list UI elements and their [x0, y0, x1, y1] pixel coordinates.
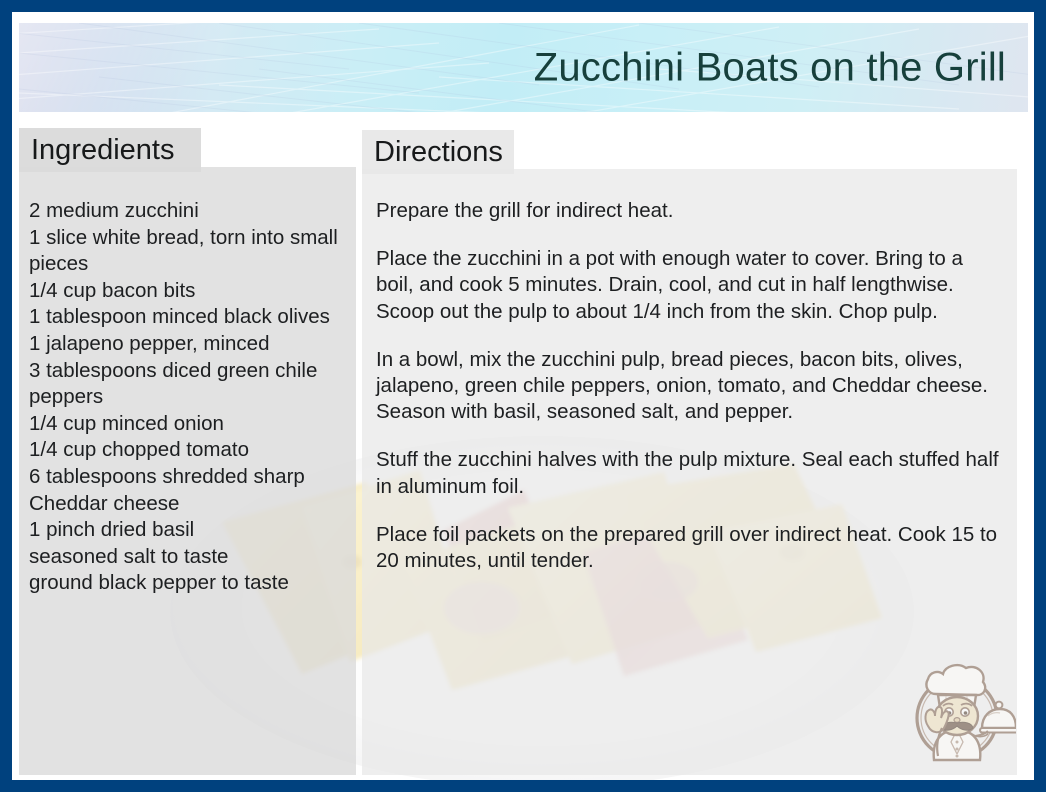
list-item: 1/4 cup bacon bits: [29, 278, 346, 305]
recipe-card-frame: Zucchini Boats on the Grill Ingredients …: [0, 0, 1046, 792]
tab-ingredients[interactable]: Ingredients: [19, 128, 201, 172]
direction-step: Stuff the zucchini halves with the pulp …: [376, 447, 1003, 499]
direction-step: Place foil packets on the prepared grill…: [376, 522, 1003, 574]
list-item: 3 tablespoons diced green chile peppers: [29, 358, 346, 411]
page-title: Zucchini Boats on the Grill: [534, 45, 1006, 90]
direction-step: Prepare the grill for indirect heat.: [376, 198, 1003, 224]
tab-directions[interactable]: Directions: [362, 130, 514, 174]
tab-directions-label: Directions: [374, 136, 503, 169]
recipe-page: Zucchini Boats on the Grill Ingredients …: [12, 12, 1034, 780]
list-item: 6 tablespoons shredded sharp Cheddar che…: [29, 464, 346, 517]
list-item: ground black pepper to taste: [29, 570, 346, 597]
tab-ingredients-label: Ingredients: [31, 134, 175, 167]
list-item: seasoned salt to taste: [29, 544, 346, 571]
header-banner: Zucchini Boats on the Grill: [19, 23, 1028, 112]
list-item: 1 jalapeno pepper, minced: [29, 331, 346, 358]
list-item: 1/4 cup minced onion: [29, 411, 346, 438]
ingredient-list: 2 medium zucchini 1 slice white bread, t…: [29, 198, 346, 597]
direction-step: In a bowl, mix the zucchini pulp, bread …: [376, 347, 1003, 426]
chef-mascot-logo: [898, 650, 1016, 768]
list-item: 1 slice white bread, torn into small pie…: [29, 225, 346, 278]
list-item: 1/4 cup chopped tomato: [29, 437, 346, 464]
list-item: 1 tablespoon minced black olives: [29, 304, 346, 331]
ingredients-panel: 2 medium zucchini 1 slice white bread, t…: [19, 167, 356, 775]
direction-step: Place the zucchini in a pot with enough …: [376, 246, 1003, 325]
list-item: 2 medium zucchini: [29, 198, 346, 225]
list-item: 1 pinch dried basil: [29, 517, 346, 544]
